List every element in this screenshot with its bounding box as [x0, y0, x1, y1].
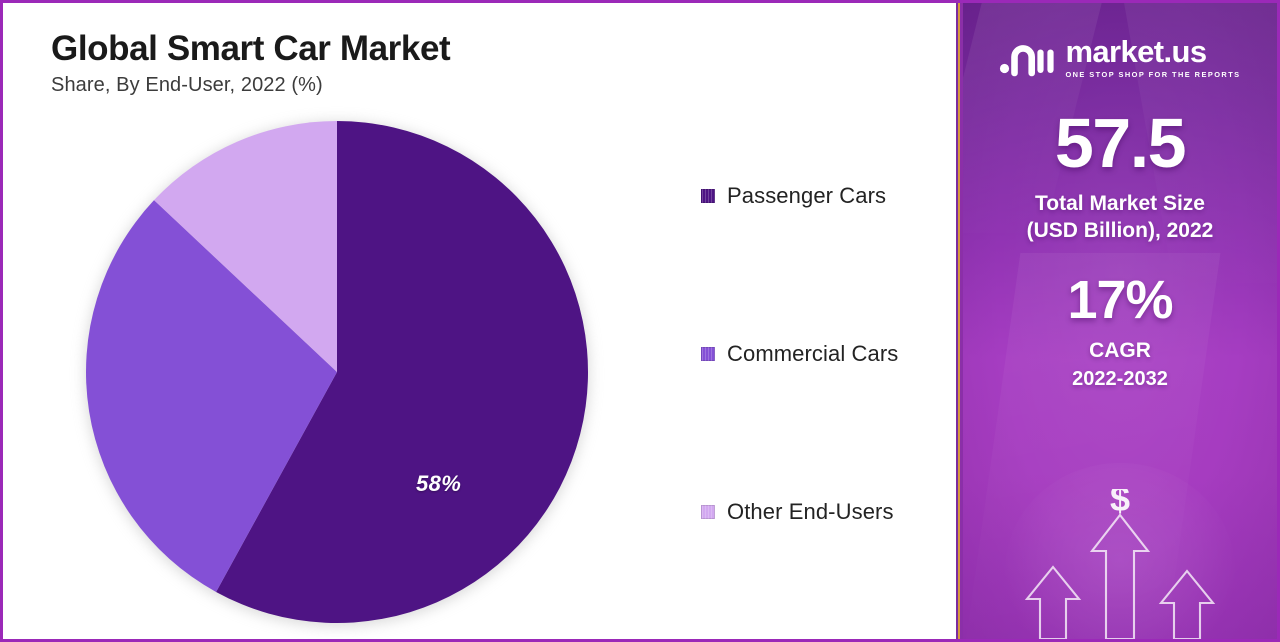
pie-chart: 58% — [81, 116, 593, 628]
stats-sidebar: market.us ONE STOP SHOP FOR THE REPORTS … — [963, 3, 1277, 639]
legend-label-passenger-cars: Passenger Cars — [727, 183, 886, 209]
infographic-container: Global Smart Car Market Share, By End-Us… — [0, 0, 1280, 642]
stats-block: 57.5 Total Market Size (USD Billion), 20… — [963, 78, 1277, 392]
stat-caption-market-size: Total Market Size (USD Billion), 2022 — [963, 191, 1277, 245]
page-title: Global Smart Car Market — [51, 29, 671, 68]
title-block: Global Smart Car Market Share, By End-Us… — [51, 29, 671, 97]
stat-market-size: 57.5 Total Market Size (USD Billion), 20… — [963, 108, 1277, 245]
legend-item-passenger-cars[interactable]: Passenger Cars — [701, 179, 951, 213]
legend-swatch-commercial-cars — [701, 347, 715, 361]
growth-arrows-with-dollar-icon: $ — [995, 489, 1245, 639]
logo-text-wrap: market.us ONE STOP SHOP FOR THE REPORTS — [1065, 36, 1240, 78]
legend-swatch-other-end-users — [701, 505, 715, 519]
legend-label-other-end-users: Other End-Users — [727, 499, 894, 525]
stat-caption-market-size-line1: Total Market Size — [963, 191, 1277, 218]
chart-panel: Global Smart Car Market Share, By End-Us… — [3, 3, 955, 639]
legend-label-commercial-cars: Commercial Cars — [727, 341, 898, 367]
legend-swatch-passenger-cars — [701, 189, 715, 203]
page-subtitle: Share, By End-User, 2022 (%) — [51, 74, 671, 97]
dollar-symbol-icon: $ — [1110, 489, 1130, 519]
stat-caption-market-size-line2: (USD Billion), 2022 — [963, 218, 1277, 245]
brand-logo[interactable]: market.us ONE STOP SHOP FOR THE REPORTS — [963, 3, 1277, 78]
chart-legend: Passenger Cars Commercial Cars Other End… — [701, 179, 951, 529]
stat-value-market-size: 57.5 — [963, 108, 1277, 178]
legend-item-commercial-cars[interactable]: Commercial Cars — [701, 337, 951, 371]
logo-tagline: ONE STOP SHOP FOR THE REPORTS — [1065, 71, 1240, 78]
panel-divider — [955, 3, 963, 639]
stat-value-cagr: 17% — [963, 273, 1277, 327]
market-us-logo-icon — [999, 37, 1055, 77]
stat-caption-cagr: CAGR — [963, 338, 1277, 365]
stat-caption-cagr-period: 2022-2032 — [963, 367, 1277, 393]
legend-item-other-end-users[interactable]: Other End-Users — [701, 495, 951, 529]
logo-wordmark: market.us — [1065, 36, 1240, 67]
pie-chart-svg — [81, 116, 593, 628]
stat-cagr: 17% CAGR 2022-2032 — [963, 273, 1277, 392]
